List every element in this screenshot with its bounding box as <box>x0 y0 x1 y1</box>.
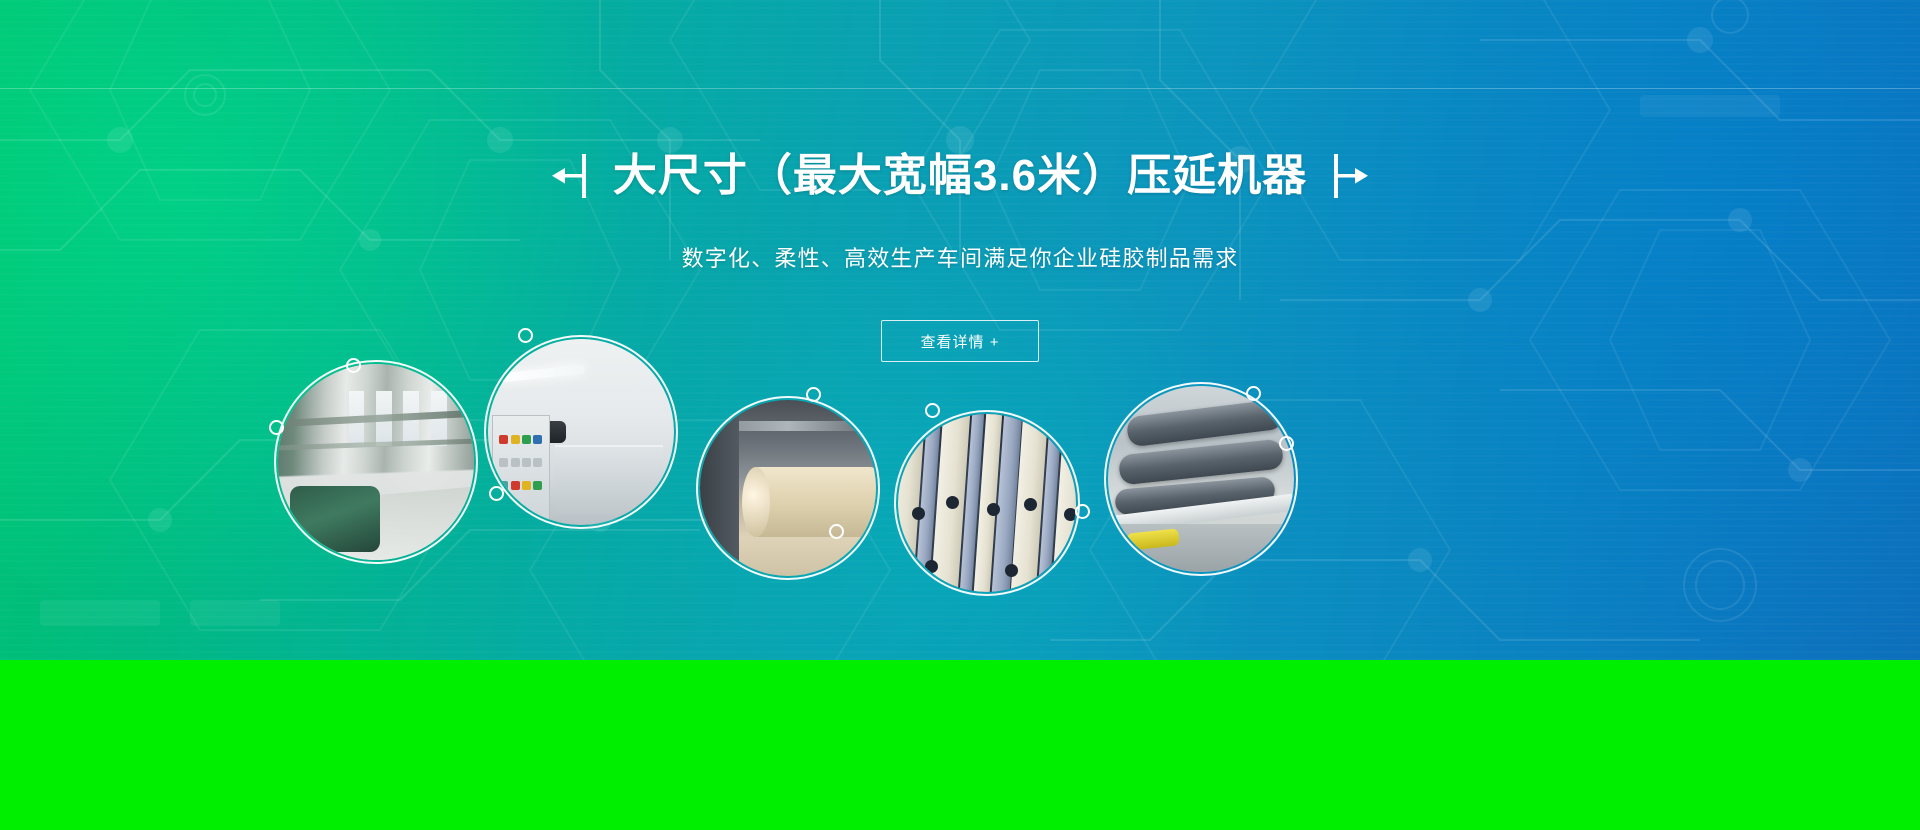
view-details-button[interactable]: 查看详情 + <box>881 320 1039 362</box>
gallery-image-silicone-strip-stack[interactable] <box>898 414 1076 592</box>
header-divider-line <box>0 88 1920 89</box>
dimension-arrow-left-icon <box>551 153 591 199</box>
page-subtitle: 数字化、柔性、高效生产车间满足你企业硅胶制品需求 <box>0 248 1920 270</box>
product-image-gallery <box>0 400 1920 660</box>
cta-container: 查看详情 + <box>0 320 1920 362</box>
photo-calender-roller-assembly <box>1108 386 1294 572</box>
photo-calender-production-line <box>278 364 474 560</box>
gallery-image-calender-production-line[interactable] <box>278 364 474 560</box>
gallery-dot-5a <box>1246 386 1261 401</box>
photo-silicone-strip-stack <box>898 414 1076 592</box>
gallery-dot-1b <box>269 420 284 435</box>
photo-sheet-calendering-roll <box>700 400 876 576</box>
bottom-green-strip <box>0 660 1920 830</box>
banner-page: 大尺寸（最大宽幅3.6米）压延机器 数字化、柔性、高效生产车间满足你企业硅胶制品… <box>0 0 1920 830</box>
gallery-dot-1a <box>346 358 361 373</box>
dimension-arrow-right-icon <box>1329 153 1369 199</box>
photo-clean-room-control-cabinets <box>488 339 674 525</box>
gallery-image-sheet-calendering-roll[interactable] <box>700 400 876 576</box>
gallery-image-calender-roller-assembly[interactable] <box>1108 386 1294 572</box>
gallery-image-clean-room-control-cabinets[interactable] <box>488 339 674 525</box>
page-title: 大尺寸（最大宽幅3.6米）压延机器 <box>613 154 1307 198</box>
gallery-dot-4b <box>1075 504 1090 519</box>
headline-row: 大尺寸（最大宽幅3.6米）压延机器 <box>0 144 1920 208</box>
gallery-dot-2b <box>489 486 504 501</box>
gallery-dot-4a <box>925 403 940 418</box>
hero-banner: 大尺寸（最大宽幅3.6米）压延机器 数字化、柔性、高效生产车间满足你企业硅胶制品… <box>0 0 1920 660</box>
gallery-dot-2a <box>518 328 533 343</box>
gallery-dot-5b <box>1279 436 1294 451</box>
gallery-dot-3b <box>829 524 844 539</box>
gallery-dot-3a <box>806 387 821 402</box>
